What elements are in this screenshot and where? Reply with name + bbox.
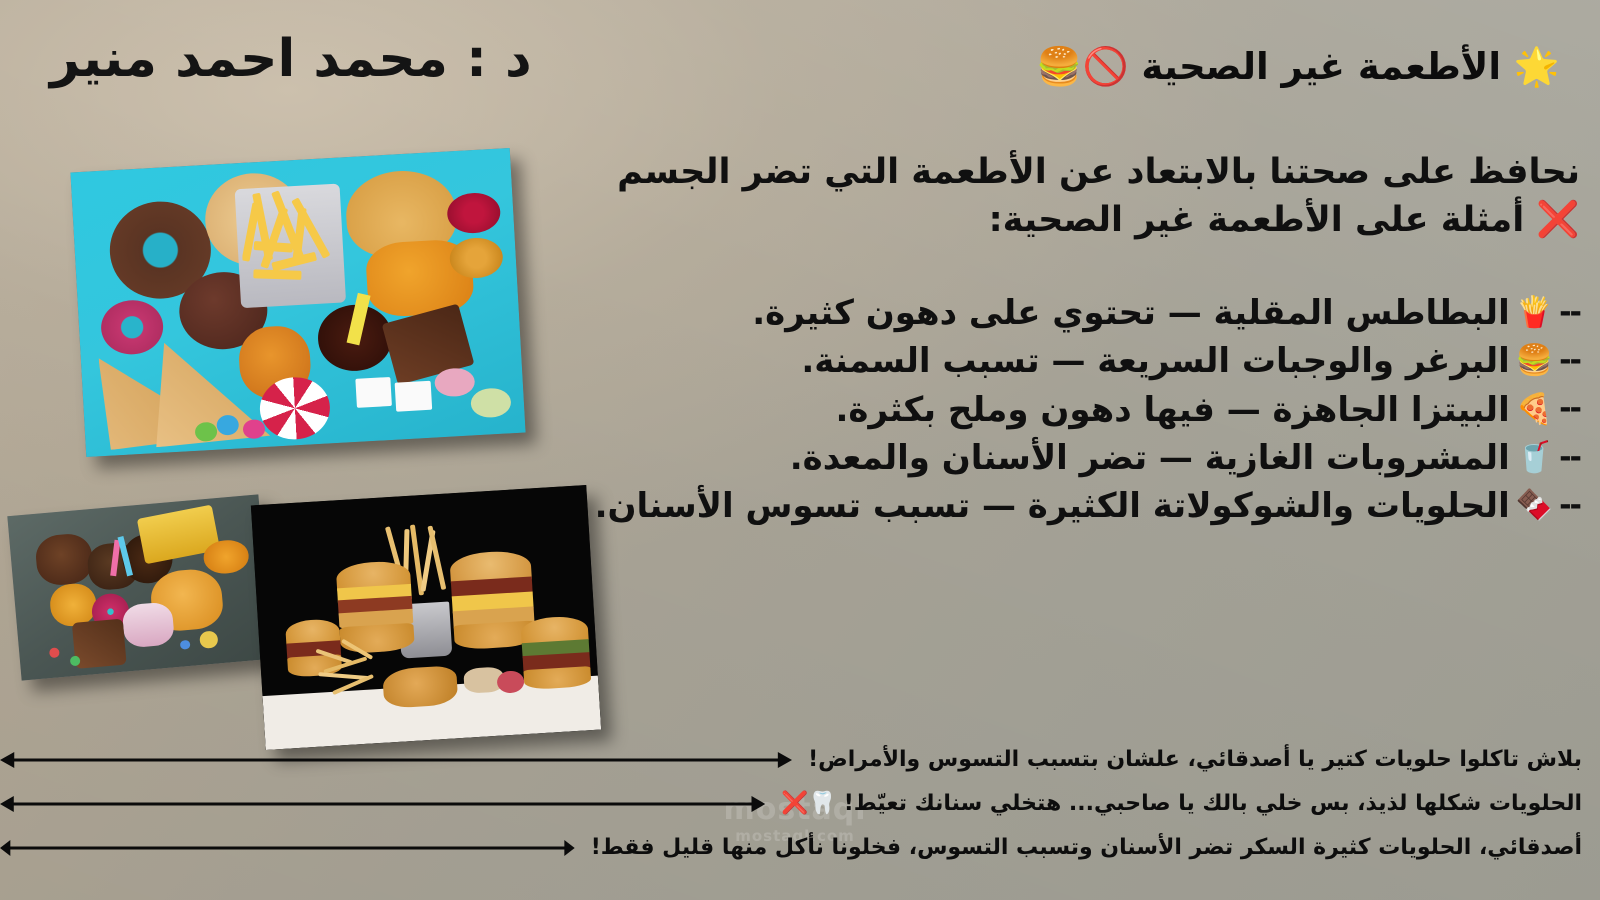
photo-junk-food-slate-board: صورة أطعمة غير صحية على لوح حجري <box>7 494 272 680</box>
soda-cup-icon: 🥤 <box>1516 443 1553 473</box>
unhealthy-food-list: -- 🍟 البطاطس المقلية — تحتوي على دهون كث… <box>550 289 1580 530</box>
double-arrow-icon <box>0 749 792 771</box>
burger-icon: 🍔 <box>1516 346 1553 376</box>
chocolate-icon: 🍫 <box>1516 491 1553 521</box>
list-item: -- 🍟 البطاطس المقلية — تحتوي على دهون كث… <box>550 289 1580 337</box>
page-title: 🌟 الأطعمة غير الصحية 🚫🍔 <box>1036 28 1560 89</box>
presentation-slide: 🌟 الأطعمة غير الصحية 🚫🍔 د : محمد احمد من… <box>0 0 1600 900</box>
photo-scene-blue <box>70 148 525 457</box>
arrow-caption-2: الحلويات شكلها لذيذ، بس خلي بالك يا صاحب… <box>765 792 1600 816</box>
double-arrow-icon <box>0 837 575 859</box>
photo-scene-black <box>251 485 601 750</box>
photo-scene-slate <box>7 494 272 680</box>
photo-burgers-fries-black: صورة برغر وبطاطس مقلية على خلفية سوداء <box>251 485 601 750</box>
intro-line-1: نحافظ على صحتنا بالابتعاد عن الأطعمة الت… <box>550 150 1580 196</box>
dash-marker-icon: -- <box>1559 437 1580 480</box>
dash-marker-icon: -- <box>1559 292 1580 335</box>
list-item-label: البرغر والوجبات السريعة — تسبب السمنة. <box>801 337 1509 385</box>
fries-icon: 🍟 <box>1516 298 1553 328</box>
arrow-caption-1: بلاش تاكلوا حلويات كتير يا أصدقائي، علشا… <box>792 748 1600 772</box>
intro-line-2: ❌ أمثلة على الأطعمة غير الصحية: <box>550 198 1580 244</box>
list-item-label: البطاطس المقلية — تحتوي على دهون كثيرة. <box>752 289 1510 337</box>
dash-marker-icon: -- <box>1559 388 1580 431</box>
list-item: -- 🍕 البيتزا الجاهزة — فيها دهون وملح بك… <box>550 386 1580 434</box>
list-item: -- 🍔 البرغر والوجبات السريعة — تسبب السم… <box>550 337 1580 385</box>
list-item-label: الحلويات والشوكولاتة الكثيرة — تسبب تسوس… <box>595 482 1510 530</box>
dash-marker-icon: -- <box>1559 340 1580 383</box>
list-item: -- 🥤 المشروبات الغازية — تضر الأسنان وال… <box>550 434 1580 482</box>
main-content: نحافظ على صحتنا بالابتعاد عن الأطعمة الت… <box>550 150 1580 530</box>
list-item: -- 🍫 الحلويات والشوكولاتة الكثيرة — تسبب… <box>550 482 1580 530</box>
arrow-callout-row: أصدقائي، الحلويات كثيرة السكر تضر الأسنا… <box>0 826 1600 870</box>
pizza-icon: 🍕 <box>1516 395 1553 425</box>
photo-junk-food-blue-board: صورة أطعمة غير صحية على خلفية زرقاء <box>70 148 525 457</box>
arrow-callout-row: بلاش تاكلوا حلويات كتير يا أصدقائي، علشا… <box>0 738 1600 782</box>
list-item-label: المشروبات الغازية — تضر الأسنان والمعدة. <box>790 434 1510 482</box>
list-item-label: البيتزا الجاهزة — فيها دهون وملح بكثرة. <box>836 386 1510 434</box>
arrow-callout-row: الحلويات شكلها لذيذ، بس خلي بالك يا صاحب… <box>0 782 1600 826</box>
arrow-callouts: بلاش تاكلوا حلويات كتير يا أصدقائي، علشا… <box>0 738 1600 878</box>
presenter-name: د : محمد احمد منير <box>40 28 532 90</box>
dash-marker-icon: -- <box>1559 485 1580 528</box>
slide-header: 🌟 الأطعمة غير الصحية 🚫🍔 د : محمد احمد من… <box>40 28 1560 138</box>
double-arrow-icon <box>0 793 765 815</box>
arrow-caption-3: أصدقائي، الحلويات كثيرة السكر تضر الأسنا… <box>575 836 1600 860</box>
